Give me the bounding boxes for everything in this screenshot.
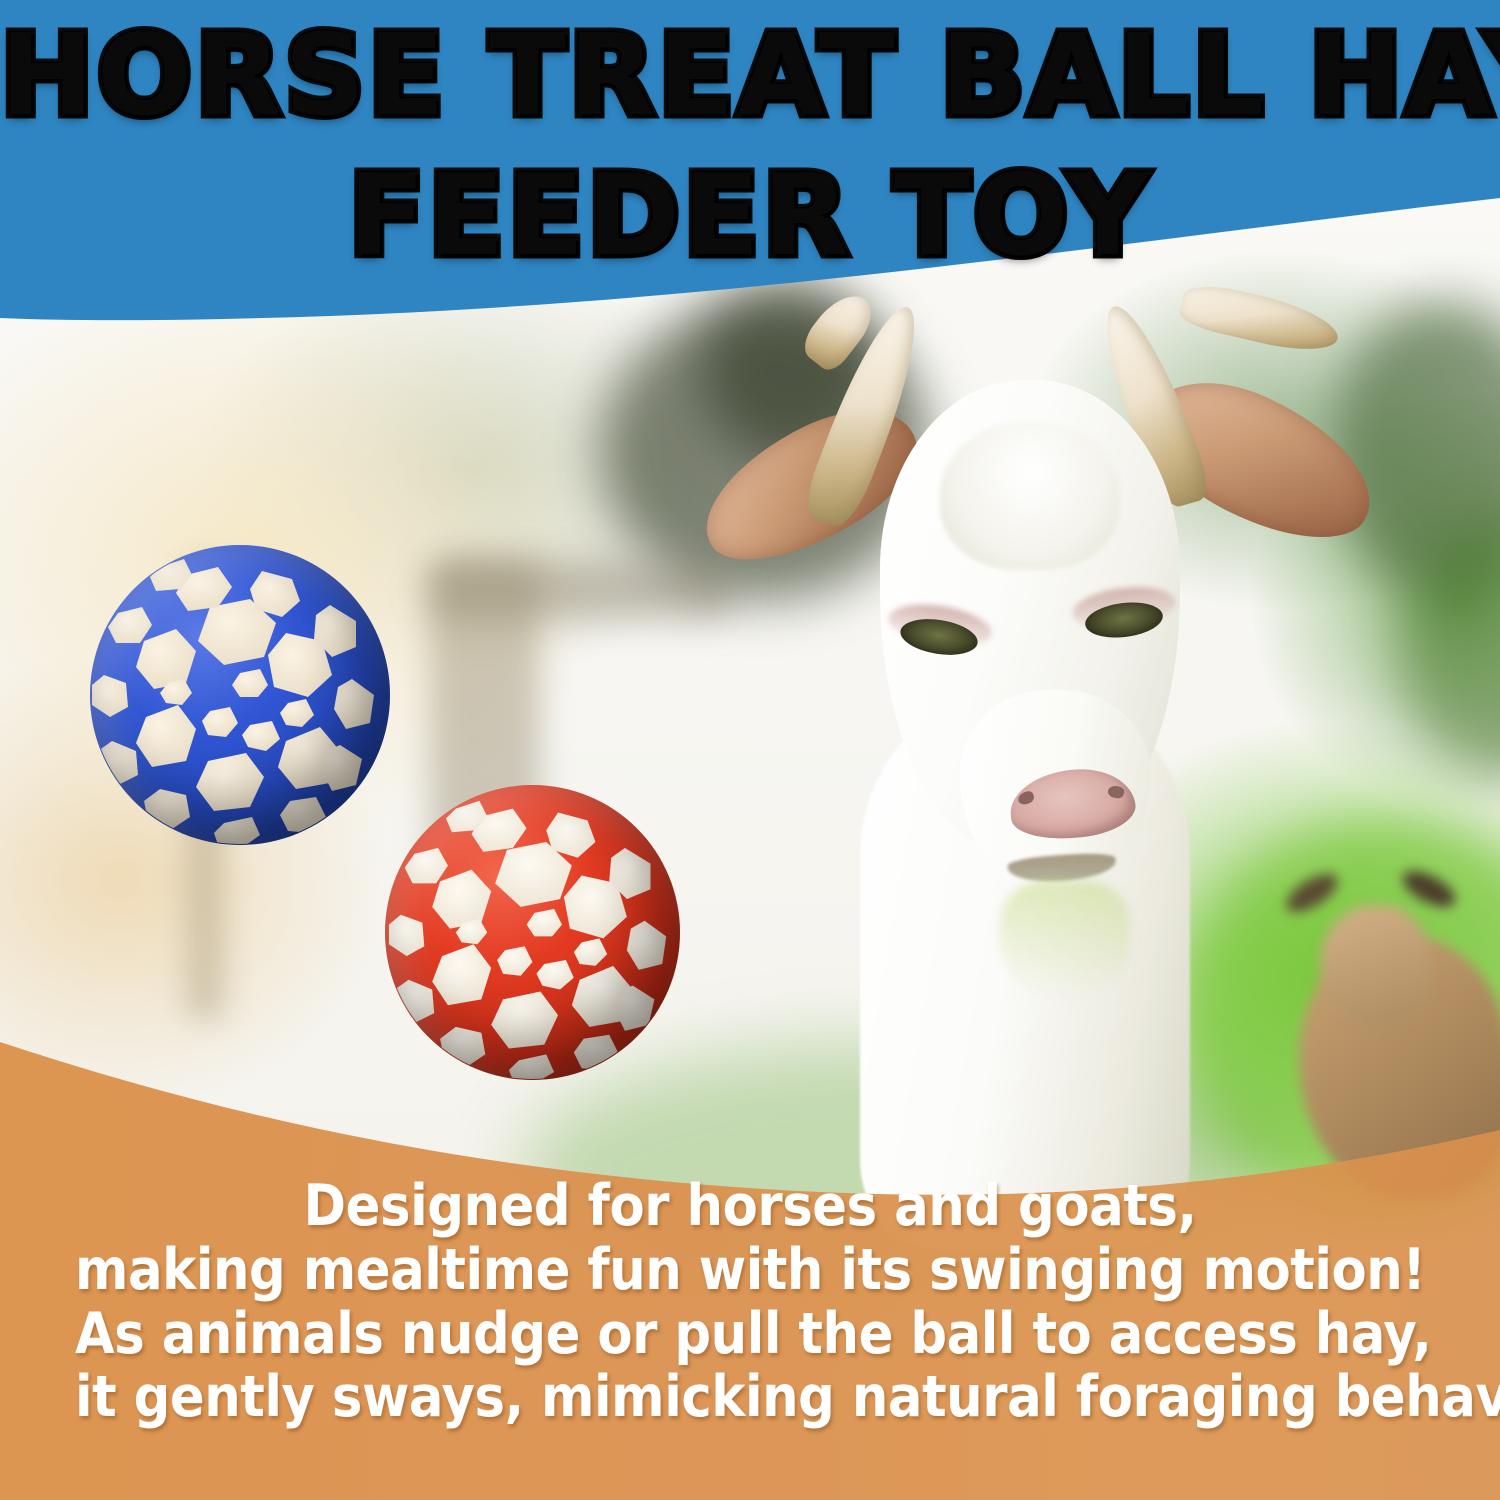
footer-line-3: As animals nudge or pull the ball to acc… <box>75 1303 1425 1367</box>
footer-line-2: making mealtime fun with its swinging mo… <box>75 1239 1425 1303</box>
product-marketing-image: HORSE TREAT BALL HAY FEEDER TOY Designed… <box>0 0 1500 1500</box>
footer-line-1: Designed for horses and goats, <box>75 1175 1425 1239</box>
goat-forelock <box>940 420 1120 570</box>
title-block: HORSE TREAT BALL HAY FEEDER TOY <box>0 0 1500 320</box>
footer-description-block: Designed for horses and goats, making me… <box>0 1175 1500 1430</box>
footer-line-4: it gently sways, mimicking natural forag… <box>75 1366 1425 1430</box>
page-title-line-2: FEEDER TOY <box>0 162 1500 272</box>
page-title-line-1: HORSE TREAT BALL HAY <box>0 22 1500 132</box>
blue-lattice-ball <box>90 545 390 845</box>
